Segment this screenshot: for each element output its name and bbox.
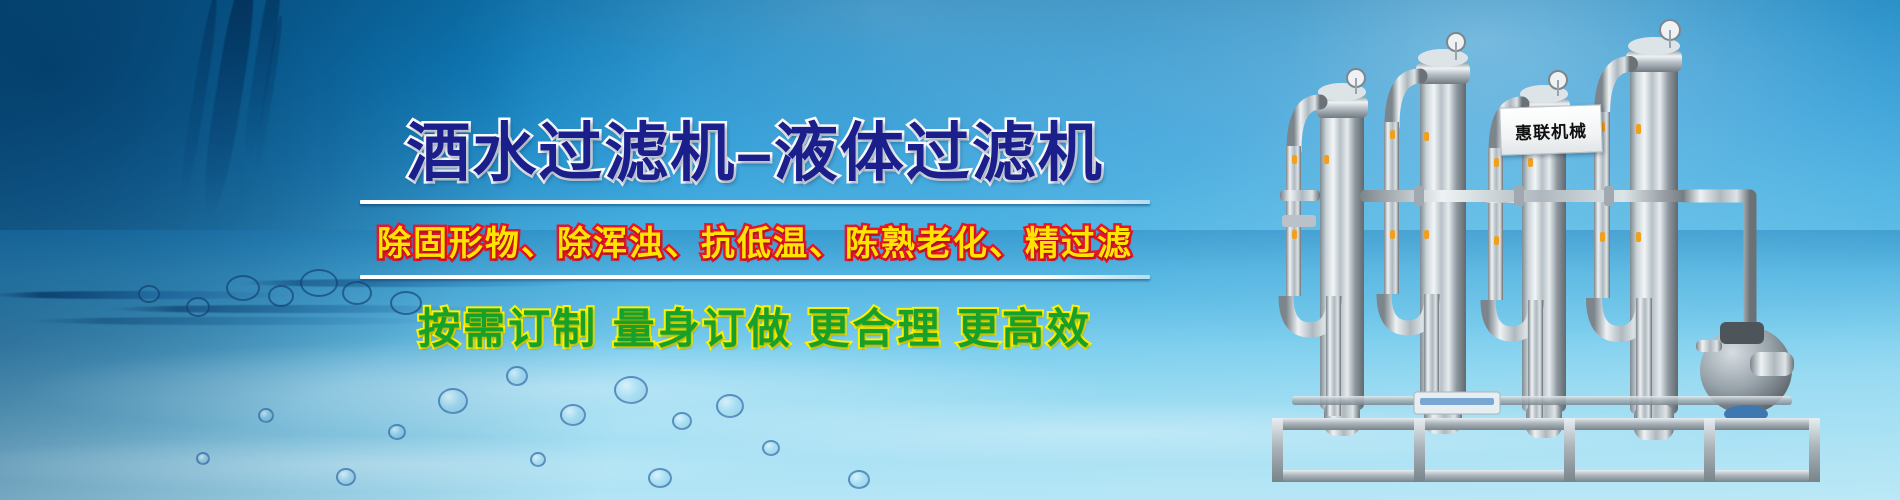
- divider-top: [360, 200, 1150, 204]
- filter-column-1: [1280, 69, 1368, 436]
- feature-list: 除固形物、除浑浊、抗低温、陈熟老化、精过滤: [360, 216, 1150, 265]
- promo-banner: 酒水过滤机–液体过滤机 除固形物、除浑浊、抗低温、陈熟老化、精过滤 按需订制 量…: [0, 0, 1900, 500]
- outlet-pipe: [1684, 196, 1750, 326]
- filter-column-2: [1378, 33, 1470, 434]
- copy-block: 酒水过滤机–液体过滤机 除固形物、除浑浊、抗低温、陈熟老化、精过滤 按需订制 量…: [360, 120, 1150, 356]
- product-image: 惠联机械: [1264, 0, 1884, 500]
- pump-unit: [1696, 322, 1794, 423]
- brand-nameplate: 惠联机械: [1499, 104, 1603, 156]
- page-title: 酒水过滤机–液体过滤机: [360, 120, 1150, 188]
- tagline: 按需订制 量身订做 更合理 更高效: [360, 295, 1150, 356]
- filter-column-4: [1588, 20, 1682, 440]
- divider-bottom: [360, 275, 1150, 279]
- brand-nameplate-text: 惠联机械: [1515, 116, 1588, 143]
